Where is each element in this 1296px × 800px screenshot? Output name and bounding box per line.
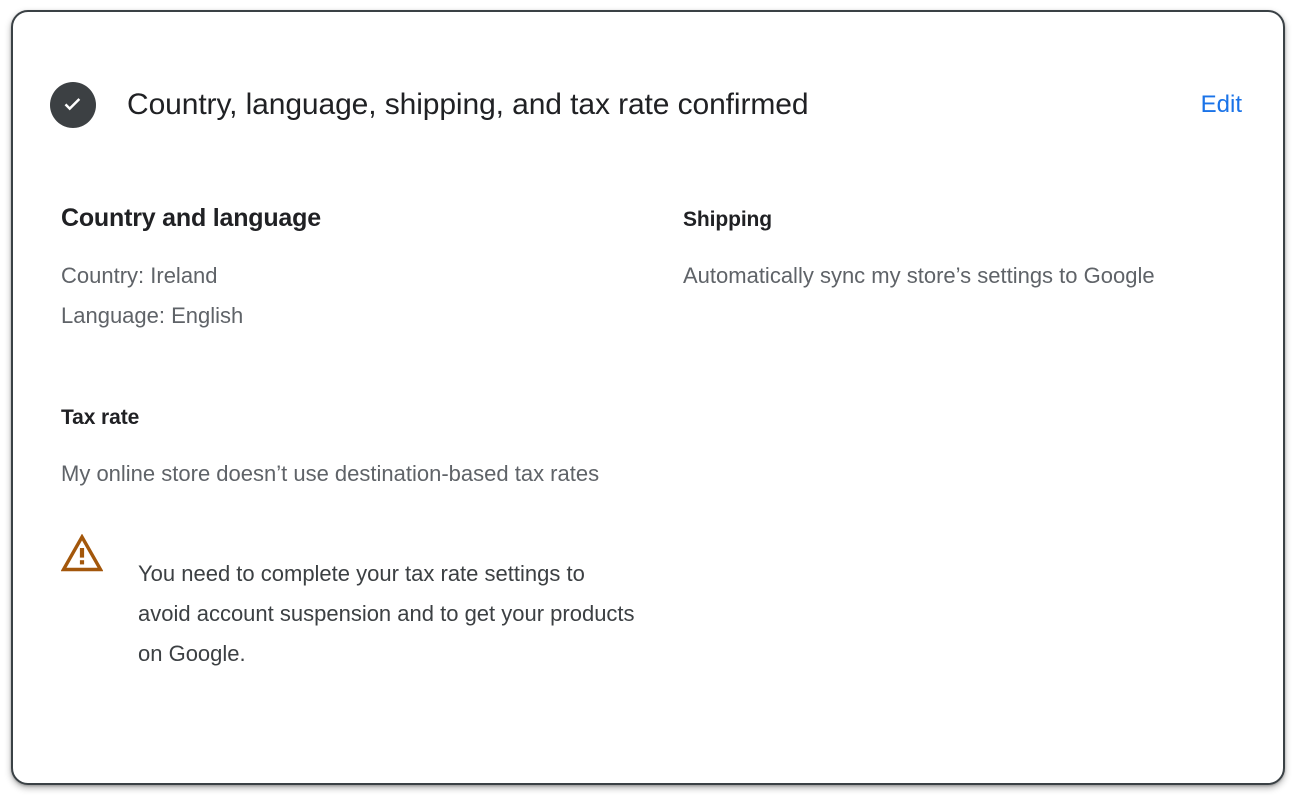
card-header: Country, language, shipping, and tax rat… <box>13 12 1283 192</box>
country-value: Country: Ireland <box>61 256 683 296</box>
tax-rate-heading: Tax rate <box>61 404 683 432</box>
country-language-section: Country and language Country: Ireland La… <box>61 202 683 336</box>
tax-rate-section: Tax rate My online store doesn’t use des… <box>61 404 683 696</box>
card-body: Country and language Country: Ireland La… <box>61 202 1243 783</box>
confirmation-card: Country, language, shipping, and tax rat… <box>11 10 1285 785</box>
warning-triangle-icon <box>61 532 105 578</box>
shipping-section: Shipping Automatically sync my store’s s… <box>683 206 1243 296</box>
card-header-row: Country, language, shipping, and tax rat… <box>50 82 1242 128</box>
tax-rate-warning: You need to complete your tax rate setti… <box>61 532 683 696</box>
shipping-value: Automatically sync my store’s settings t… <box>683 256 1228 296</box>
language-value: Language: English <box>61 296 683 336</box>
page-title: Country, language, shipping, and tax rat… <box>127 86 1183 124</box>
check-circle-icon <box>50 82 96 128</box>
edit-button[interactable]: Edit <box>1183 90 1242 120</box>
two-column-layout: Country and language Country: Ireland La… <box>61 202 1243 696</box>
shipping-heading: Shipping <box>683 206 1243 234</box>
tax-rate-value: My online store doesn’t use destination-… <box>61 454 606 494</box>
left-column: Country and language Country: Ireland La… <box>61 202 683 696</box>
country-language-heading: Country and language <box>61 202 683 234</box>
tax-rate-warning-text: You need to complete your tax rate setti… <box>138 554 638 674</box>
confirmation-card-container: Country, language, shipping, and tax rat… <box>11 10 1285 785</box>
right-column: Shipping Automatically sync my store’s s… <box>683 202 1243 296</box>
